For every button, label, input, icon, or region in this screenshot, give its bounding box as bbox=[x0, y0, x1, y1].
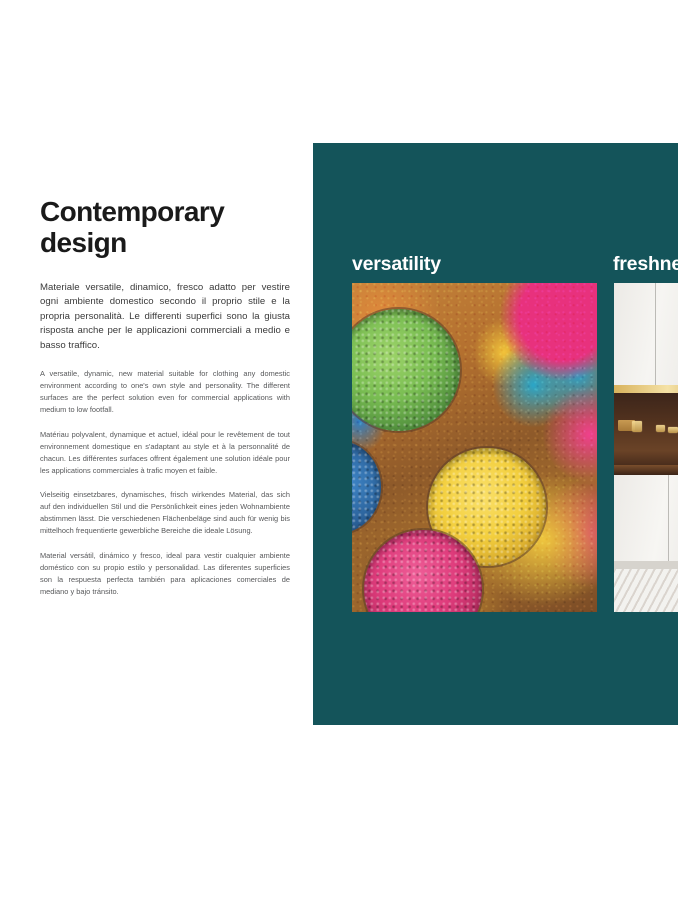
short-glass-jar bbox=[668, 427, 678, 433]
under-cabinet-led-strip bbox=[614, 385, 678, 393]
tall-glass-jar bbox=[632, 421, 642, 432]
text-column: Contemporary design Materiale versatile,… bbox=[40, 196, 290, 598]
heading-freshness: freshness bbox=[613, 253, 678, 276]
heading-versatility: versatility bbox=[352, 253, 441, 276]
wood-niche-shelf bbox=[614, 393, 678, 465]
cabinet-plinth bbox=[614, 561, 678, 570]
medium-glass-jar bbox=[656, 425, 666, 432]
cabinet-seam bbox=[668, 475, 669, 561]
paragraph-english: A versatile, dynamic, new material suita… bbox=[40, 368, 290, 416]
upper-cabinets bbox=[614, 283, 678, 385]
intro-paragraph-italian: Materiale versatile, dinamico, fresco ad… bbox=[40, 281, 290, 354]
wood-look-floor bbox=[614, 569, 678, 612]
teal-feature-panel: versatility freshness bbox=[313, 143, 678, 725]
page-title: Contemporary design bbox=[40, 196, 290, 259]
colored-pigment-powders-photo bbox=[352, 283, 597, 612]
modern-white-kitchen-photo bbox=[614, 283, 678, 612]
paragraph-spanish: Material versátil, dinámico y fresco, id… bbox=[40, 550, 290, 598]
kitchen-scene bbox=[614, 283, 678, 612]
paragraph-german: Vielseitig einsetzbares, dynamisches, fr… bbox=[40, 489, 290, 537]
cabinet-seam bbox=[655, 283, 656, 385]
paragraph-french: Matériau polyvalent, dynamique et actuel… bbox=[40, 429, 290, 477]
countertop bbox=[614, 465, 678, 475]
